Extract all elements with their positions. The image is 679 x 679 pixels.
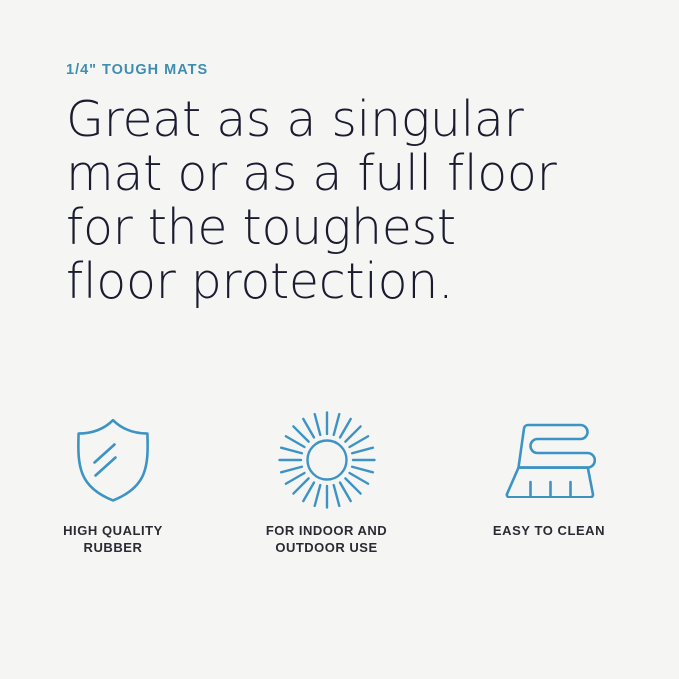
feature-item-easy-to-clean: EASY TO CLEAN: [429, 408, 669, 539]
headline-line-1: Great as a singular: [66, 93, 586, 147]
promo-banner: 1/4" TOUGH MATS Great as a singular mat …: [0, 0, 679, 679]
feature-item-high-quality-rubber: HIGH QUALITY RUBBER: [2, 408, 224, 556]
feature-caption: HIGH QUALITY RUBBER: [63, 522, 163, 556]
feature-caption: FOR INDOOR AND OUTDOOR USE: [266, 522, 387, 556]
scrub-brush-icon: [502, 408, 596, 512]
feature-list: HIGH QUALITY RUBBER: [0, 408, 679, 556]
sun-icon: [277, 408, 377, 512]
headline-line-4: floor protection.: [66, 255, 586, 309]
eyebrow-label: 1/4" TOUGH MATS: [66, 62, 586, 79]
page-title: Great as a singular mat or as a full flo…: [66, 93, 586, 309]
promo-text-block: 1/4" TOUGH MATS Great as a singular mat …: [66, 62, 586, 309]
headline-line-2: mat or as a full floor: [66, 147, 586, 201]
feature-caption: EASY TO CLEAN: [493, 522, 605, 539]
shield-icon: [74, 408, 152, 512]
feature-item-indoor-outdoor: FOR INDOOR AND OUTDOOR USE: [224, 408, 429, 556]
headline-line-3: for the toughest: [66, 201, 586, 255]
